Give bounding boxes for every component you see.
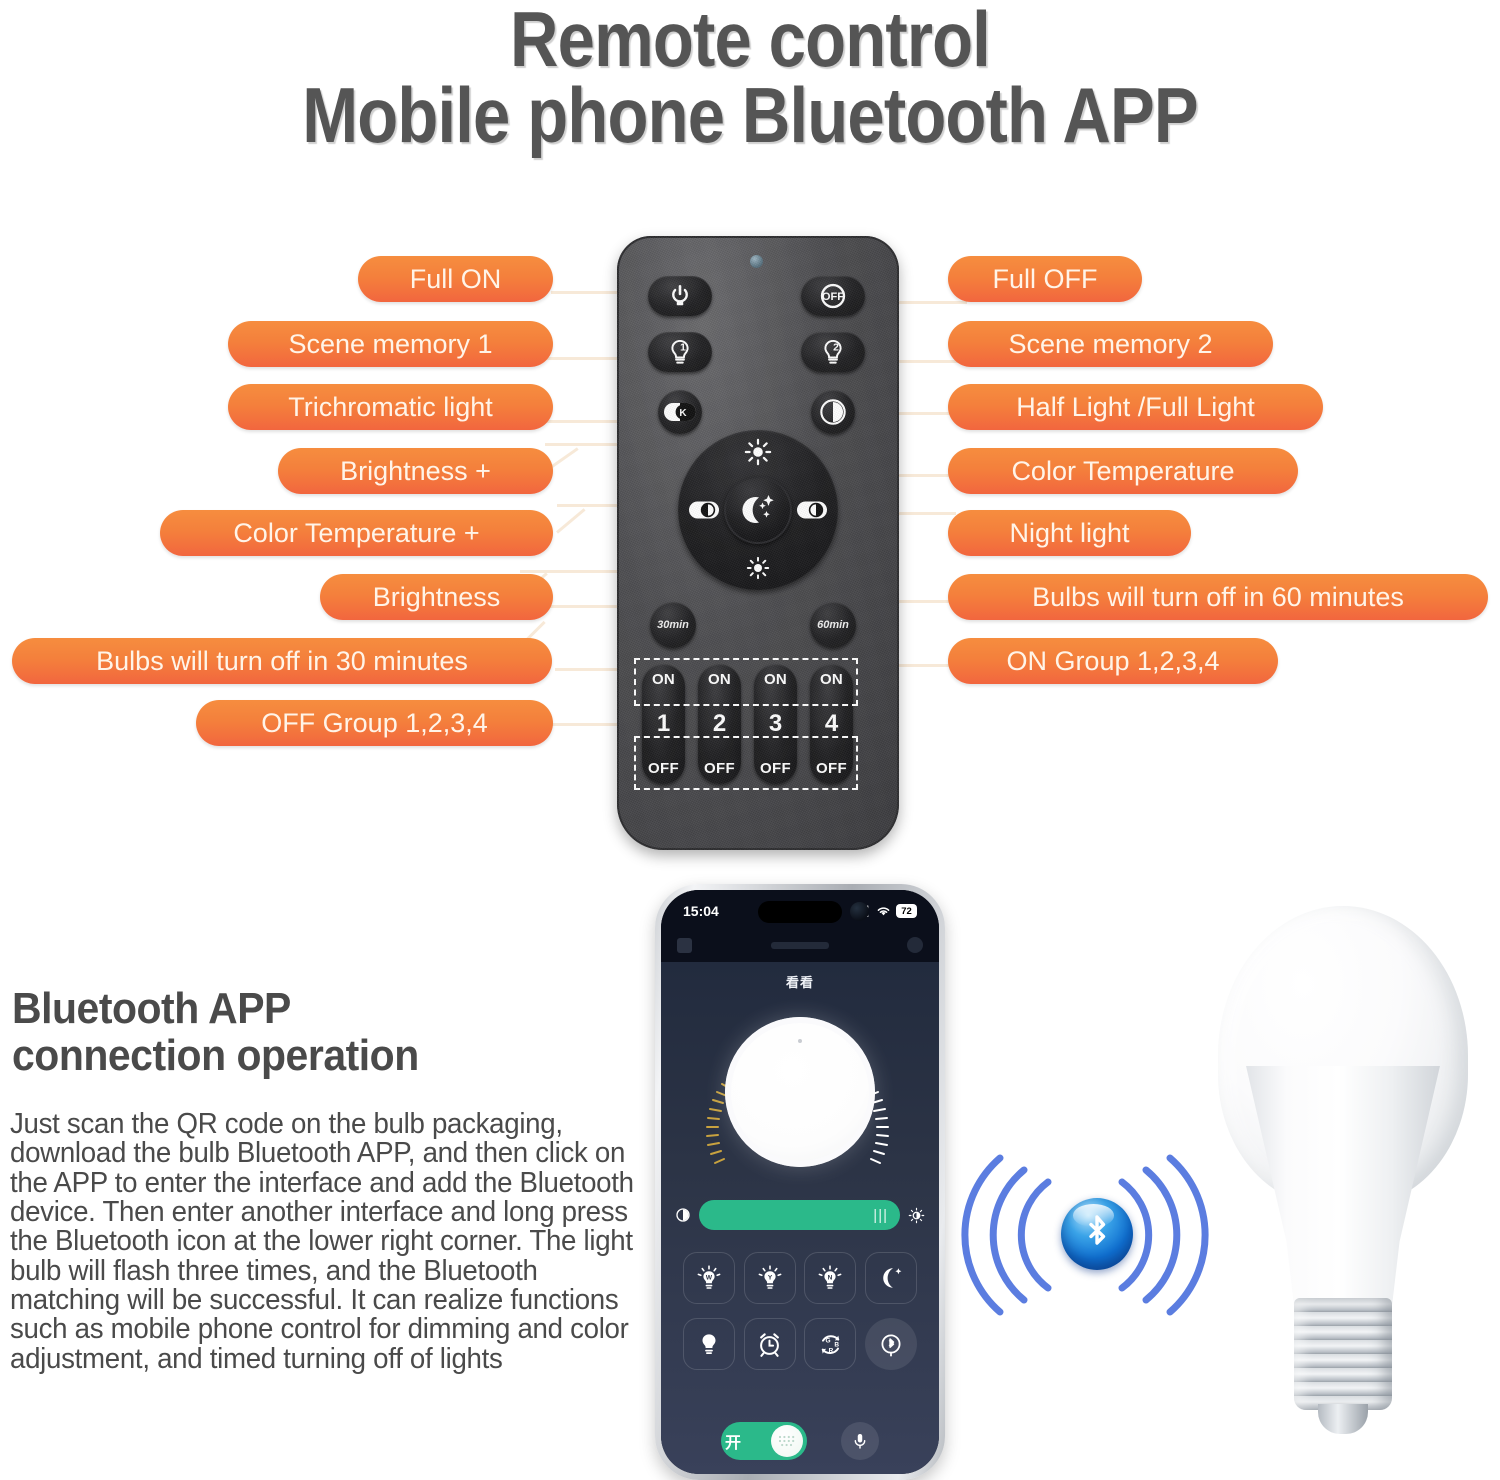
scene-bulb-1-icon: 1 bbox=[665, 337, 695, 367]
half-contrast-icon bbox=[819, 398, 847, 426]
bluetooth-connection-graphic bbox=[960, 1140, 1210, 1330]
off-circle-icon: OFF bbox=[819, 282, 847, 310]
callout-label: Color Temperature + bbox=[233, 518, 479, 549]
group-number: 3 bbox=[769, 710, 782, 738]
bulb-natural-icon: N bbox=[816, 1264, 844, 1292]
bulb-letter: N bbox=[828, 1274, 833, 1281]
moon-stars-icon bbox=[735, 489, 781, 531]
timer-60-label: 60min bbox=[817, 619, 849, 631]
callout-label: Scene memory 1 bbox=[288, 329, 492, 360]
callout-off-30-minutes[interactable]: Bulbs will turn off in 30 minutes bbox=[12, 638, 552, 684]
remote-control-device: OFF 1 2 K bbox=[617, 236, 899, 850]
callout-scene-memory-2[interactable]: Scene memory 2 bbox=[948, 321, 1273, 367]
remote-button-full-on[interactable] bbox=[648, 276, 712, 316]
callout-off-60-minutes[interactable]: Bulbs will turn off in 60 minutes bbox=[948, 574, 1488, 620]
section-paragraph: Just scan the QR code on the bulb packag… bbox=[10, 1110, 636, 1374]
callout-label: Night light bbox=[1009, 518, 1129, 549]
bulb-screw-base-e27 bbox=[1294, 1298, 1392, 1410]
section-heading-line-1: Bluetooth APP bbox=[12, 984, 291, 1033]
callout-brightness-plus[interactable]: Brightness + bbox=[278, 448, 553, 494]
toggle-label: 开 bbox=[725, 1429, 741, 1453]
phone-screen: 15:04 72 bbox=[661, 890, 939, 1474]
sun-bright-icon bbox=[744, 438, 772, 466]
brightness-slider-row[interactable]: ||| bbox=[661, 1198, 939, 1232]
callout-label: Scene memory 2 bbox=[1008, 329, 1212, 360]
bulb-plain-icon bbox=[696, 1331, 722, 1357]
app-button-bulb-white[interactable]: W bbox=[683, 1252, 735, 1304]
dynamic-island bbox=[758, 901, 842, 923]
bluetooth-pair-icon bbox=[878, 1331, 904, 1357]
svg-text:OFF: OFF bbox=[822, 291, 844, 303]
menu-icon[interactable] bbox=[677, 938, 692, 953]
svg-text:B: B bbox=[834, 1341, 839, 1348]
app-nav-bar bbox=[661, 928, 939, 962]
ir-led-indicator bbox=[750, 255, 763, 268]
app-button-timer[interactable] bbox=[744, 1318, 796, 1370]
battery-level: 72 bbox=[901, 906, 912, 917]
remote-button-half-full-light[interactable] bbox=[811, 390, 855, 434]
contrast-left-icon bbox=[688, 500, 720, 520]
callout-night-light[interactable]: Night light bbox=[948, 510, 1191, 556]
remote-button-brightness-up[interactable] bbox=[736, 434, 780, 470]
battery-badge: 72 bbox=[896, 904, 917, 918]
callout-label: Color Temperature bbox=[1011, 456, 1234, 487]
remote-button-brightness-down[interactable] bbox=[736, 550, 780, 586]
front-camera-icon bbox=[850, 902, 869, 921]
kelvin-contrast-icon: K bbox=[663, 401, 697, 423]
group-number: 1 bbox=[657, 710, 670, 738]
bulb-yellow-icon: Y bbox=[756, 1264, 784, 1292]
contrast-right-icon bbox=[796, 500, 828, 520]
remote-button-color-temperature[interactable] bbox=[792, 488, 832, 532]
title-line-2: Mobile phone Bluetooth APP bbox=[105, 78, 1395, 154]
app-button-bulb-plain[interactable] bbox=[683, 1318, 735, 1370]
on-group-highlight-box bbox=[634, 658, 858, 706]
nav-placeholder-text bbox=[771, 942, 829, 949]
callout-label: Half Light /Full Light bbox=[1016, 392, 1255, 423]
callout-color-temperature[interactable]: Color Temperature bbox=[948, 448, 1298, 494]
callout-trichromatic-light[interactable]: Trichromatic light bbox=[228, 384, 553, 430]
account-icon[interactable] bbox=[907, 937, 923, 953]
app-button-bulb-yellow[interactable]: Y bbox=[744, 1252, 796, 1304]
remote-button-scene-memory-2[interactable]: 2 bbox=[801, 332, 865, 372]
app-function-grid: W Y bbox=[661, 1252, 939, 1370]
callout-color-temperature-plus[interactable]: Color Temperature + bbox=[160, 510, 553, 556]
app-screen-title: 看看 bbox=[661, 972, 939, 991]
callout-label: Full ON bbox=[410, 264, 502, 295]
bulb-white-icon: W bbox=[695, 1264, 723, 1292]
page-title: Remote control Mobile phone Bluetooth AP… bbox=[0, 2, 1500, 153]
alarm-clock-icon bbox=[756, 1331, 783, 1358]
callout-half-full-light[interactable]: Half Light /Full Light bbox=[948, 384, 1323, 430]
microphone-icon bbox=[851, 1432, 869, 1450]
timer-30-label: 30min bbox=[657, 619, 689, 631]
callout-label: Bulbs will turn off in 60 minutes bbox=[1032, 582, 1404, 613]
kelvin-letter: K bbox=[679, 408, 687, 419]
scene-bulb-2-icon: 2 bbox=[818, 337, 848, 367]
brightness-slider-track[interactable]: ||| bbox=[699, 1200, 900, 1230]
remote-button-timer-60min[interactable]: 60min bbox=[810, 602, 856, 648]
callout-label: Trichromatic light bbox=[288, 392, 493, 423]
bulb-letter: Y bbox=[768, 1274, 773, 1281]
callout-brightness[interactable]: Brightness bbox=[320, 574, 553, 620]
app-button-bluetooth-pair[interactable] bbox=[865, 1318, 917, 1370]
callout-label: Brightness + bbox=[340, 456, 491, 487]
off-group-highlight-box bbox=[634, 736, 858, 790]
slider-handle[interactable]: ||| bbox=[873, 1207, 888, 1224]
brightness-dial[interactable] bbox=[661, 999, 939, 1211]
power-icon bbox=[667, 283, 693, 309]
app-button-night-mode[interactable] bbox=[865, 1252, 917, 1304]
callout-label: ON Group 1,2,3,4 bbox=[1006, 646, 1219, 677]
status-time: 15:04 bbox=[683, 903, 719, 919]
app-button-bulb-natural[interactable]: N bbox=[804, 1252, 856, 1304]
wifi-icon bbox=[876, 905, 891, 917]
scene-number: 2 bbox=[833, 343, 839, 354]
app-button-rgb-cycle[interactable]: G B R bbox=[804, 1318, 856, 1370]
keypad-dots-icon bbox=[776, 1433, 798, 1449]
callout-full-on[interactable]: Full ON bbox=[358, 256, 553, 302]
remote-dpad bbox=[678, 430, 838, 590]
callout-off-group[interactable]: OFF Group 1,2,3,4 bbox=[196, 700, 553, 746]
remote-button-trichromatic[interactable]: K bbox=[658, 390, 702, 434]
contrast-icon bbox=[675, 1207, 691, 1223]
remote-button-timer-30min[interactable]: 30min bbox=[650, 602, 696, 648]
remote-button-night-light[interactable] bbox=[724, 476, 792, 544]
rgb-cycle-icon: G B R bbox=[817, 1331, 844, 1358]
bluetooth-icon bbox=[1080, 1212, 1114, 1256]
voice-input-button[interactable] bbox=[841, 1422, 879, 1460]
infographic-root: Remote control Mobile phone Bluetooth AP… bbox=[0, 0, 1500, 1480]
dial-knob[interactable] bbox=[725, 1017, 875, 1167]
bulb-letter: W bbox=[706, 1274, 713, 1281]
moon-night-icon bbox=[878, 1265, 904, 1291]
group-number: 4 bbox=[825, 710, 838, 738]
toggle-knob[interactable] bbox=[771, 1425, 803, 1457]
section-heading: Bluetooth APP connection operation bbox=[12, 986, 589, 1079]
app-bottom-bar: 开 bbox=[661, 1418, 939, 1464]
bluetooth-emblem bbox=[1061, 1198, 1133, 1270]
section-heading-line-2: connection operation bbox=[12, 1031, 419, 1080]
led-light-bulb bbox=[1196, 906, 1488, 1462]
rgb-letter: R bbox=[828, 1347, 833, 1354]
app-main-body: 看看 bbox=[661, 962, 939, 1474]
callout-full-off[interactable]: Full OFF bbox=[948, 256, 1142, 302]
callout-label: Brightness bbox=[373, 582, 501, 613]
svg-text:G: G bbox=[825, 1337, 830, 1344]
remote-button-scene-memory-1[interactable]: 1 bbox=[648, 332, 712, 372]
remote-button-color-temp-plus[interactable] bbox=[684, 488, 724, 532]
remote-button-full-off[interactable]: OFF bbox=[801, 276, 865, 316]
scene-number: 1 bbox=[680, 343, 686, 354]
bulb-base-tip bbox=[1318, 1404, 1368, 1434]
sun-dim-icon bbox=[745, 555, 771, 581]
title-line-1: Remote control bbox=[105, 2, 1395, 78]
callout-label: OFF Group 1,2,3,4 bbox=[261, 708, 488, 739]
smartphone-mockup: 15:04 72 bbox=[655, 884, 945, 1480]
power-toggle[interactable]: 开 bbox=[721, 1422, 807, 1460]
brightness-icon bbox=[908, 1207, 925, 1224]
group-number: 2 bbox=[713, 710, 726, 738]
callout-scene-memory-1[interactable]: Scene memory 1 bbox=[228, 321, 553, 367]
connector-elbow bbox=[556, 508, 586, 533]
callout-label: Full OFF bbox=[993, 264, 1098, 295]
callout-on-group[interactable]: ON Group 1,2,3,4 bbox=[948, 638, 1278, 684]
callout-label: Bulbs will turn off in 30 minutes bbox=[96, 646, 468, 677]
